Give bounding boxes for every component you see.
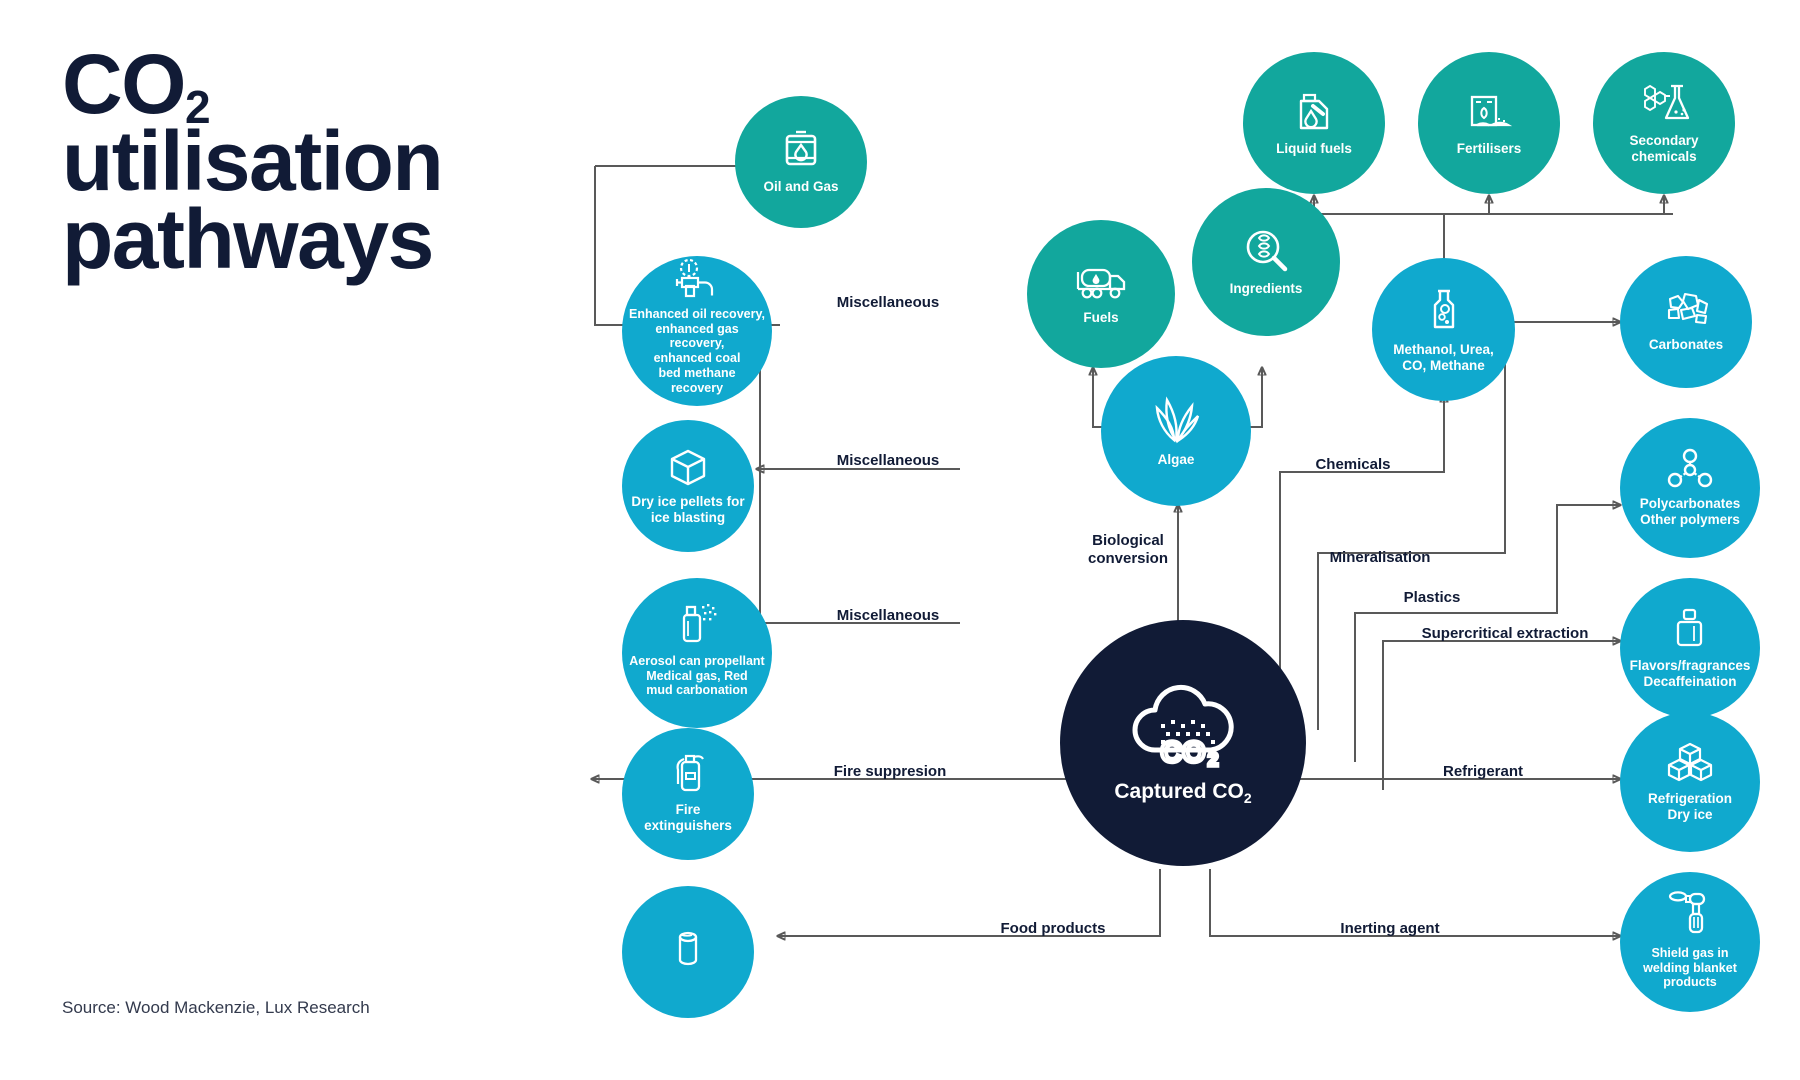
node-label: Oil and Gas — [757, 179, 844, 195]
wire-label-fire-suppression: Fire suppresion — [800, 763, 980, 781]
node-fuels[interactable]: Fuels — [1027, 220, 1175, 368]
wire-label-biological-conversion: Biological conversion — [1063, 532, 1193, 568]
node-algae[interactable]: Algae — [1101, 356, 1251, 506]
node-label: Fire extinguishers — [638, 802, 738, 834]
node-captured-co2[interactable]: CO 2 Captured CO2 — [1060, 620, 1306, 866]
node-label: Captured CO2 — [1108, 780, 1257, 807]
node-liquid-fuels[interactable]: Liquid fuels — [1243, 52, 1385, 194]
tanker-truck-icon — [1072, 262, 1130, 304]
svg-text:2: 2 — [1208, 750, 1219, 770]
node-label: Fuels — [1077, 310, 1124, 326]
co2-cloud-icon: CO 2 — [1127, 680, 1239, 770]
wire-label-inerting-agent: Inerting agent — [1300, 920, 1480, 938]
node-carbonated-beverages[interactable] — [622, 886, 754, 1018]
wire-label-food-products: Food products — [968, 920, 1138, 938]
node-shield-gas[interactable]: Shield gas in welding blanket products — [1620, 872, 1760, 1012]
node-label: Liquid fuels — [1270, 141, 1358, 157]
ice-cubes-stack-icon — [1665, 741, 1715, 785]
wire-label-supercritical-extraction: Supercritical extraction — [1390, 625, 1620, 643]
node-label: Polycarbonates Other polymers — [1634, 496, 1747, 528]
node-label: Ingredients — [1224, 281, 1309, 297]
wire-label-chemicals: Chemicals — [1288, 456, 1418, 474]
fire-extinguisher-icon — [668, 750, 708, 796]
wire-label-miscellaneous-1: Miscellaneous — [808, 294, 968, 312]
node-fire-extinguishers[interactable]: Fire extinguishers — [622, 728, 754, 860]
svg-text:CO: CO — [1161, 736, 1206, 769]
jerrycan-icon — [1291, 89, 1337, 135]
node-label: Enhanced oil recovery, enhanced gas reco… — [622, 307, 772, 396]
node-methanol-urea[interactable]: Methanol, Urea, CO, Methane — [1372, 258, 1515, 401]
perfume-bottle-icon — [1671, 606, 1709, 652]
wire-label-mineralisation: Mineralisation — [1305, 549, 1455, 567]
bottle-bubbles-icon — [1424, 286, 1464, 336]
node-label: Dry ice pellets for ice blasting — [625, 494, 750, 526]
node-label: Carbonates — [1643, 337, 1729, 353]
wire-label-plastics: Plastics — [1372, 589, 1492, 607]
welding-torch-icon — [1666, 890, 1714, 940]
oil-barrel-icon — [779, 129, 823, 173]
ice-cube-icon — [666, 446, 710, 488]
node-enhanced-recovery[interactable]: Enhanced oil recovery, enhanced gas reco… — [622, 256, 772, 406]
node-label: Aerosol can propellant Medical gas, Red … — [623, 654, 770, 698]
node-label: Flavors/fragrances Decaffeination — [1624, 658, 1757, 690]
node-refrigeration[interactable]: Refrigeration Dry ice — [1620, 712, 1760, 852]
node-label: Shield gas in welding blanket products — [1637, 946, 1743, 990]
node-dry-ice-pellets[interactable]: Dry ice pellets for ice blasting — [622, 420, 754, 552]
node-aerosol-medical[interactable]: Aerosol can propellant Medical gas, Red … — [622, 578, 772, 728]
infographic-canvas: CO2 utilisation pathways Source: Wood Ma… — [0, 0, 1800, 1080]
algae-grass-icon — [1148, 394, 1204, 446]
node-carbonates[interactable]: Carbonates — [1620, 256, 1752, 388]
wire-label-miscellaneous-3: Miscellaneous — [808, 607, 968, 625]
node-label: Fertilisers — [1451, 141, 1528, 157]
node-label: Methanol, Urea, CO, Methane — [1387, 342, 1500, 374]
wire-label-refrigerant: Refrigerant — [1398, 763, 1568, 781]
soda-can-icon — [671, 926, 705, 972]
node-label: Secondary chemicals — [1623, 133, 1704, 165]
node-label: Refrigeration Dry ice — [1642, 791, 1738, 823]
node-label: Algae — [1152, 452, 1201, 468]
spray-can-icon — [673, 602, 721, 648]
magnifier-icon — [1242, 227, 1290, 275]
node-ingredients[interactable]: Ingredients — [1192, 188, 1340, 336]
rock-aggregate-icon — [1662, 291, 1710, 331]
node-secondary-chemicals[interactable]: Secondary chemicals — [1593, 52, 1735, 194]
node-polycarbonates[interactable]: Polycarbonates Other polymers — [1620, 418, 1760, 558]
flask-molecule-icon — [1638, 81, 1690, 127]
wellhead-valve-icon — [671, 259, 723, 301]
node-fertilisers[interactable]: Fertilisers — [1418, 52, 1560, 194]
wire-label-miscellaneous-2: Miscellaneous — [808, 452, 968, 470]
node-flavors-fragrances[interactable]: Flavors/fragrances Decaffeination — [1620, 578, 1760, 718]
polymer-molecule-icon — [1666, 448, 1714, 490]
fertiliser-bag-icon — [1464, 89, 1514, 135]
node-oil-and-gas[interactable]: Oil and Gas — [735, 96, 867, 228]
